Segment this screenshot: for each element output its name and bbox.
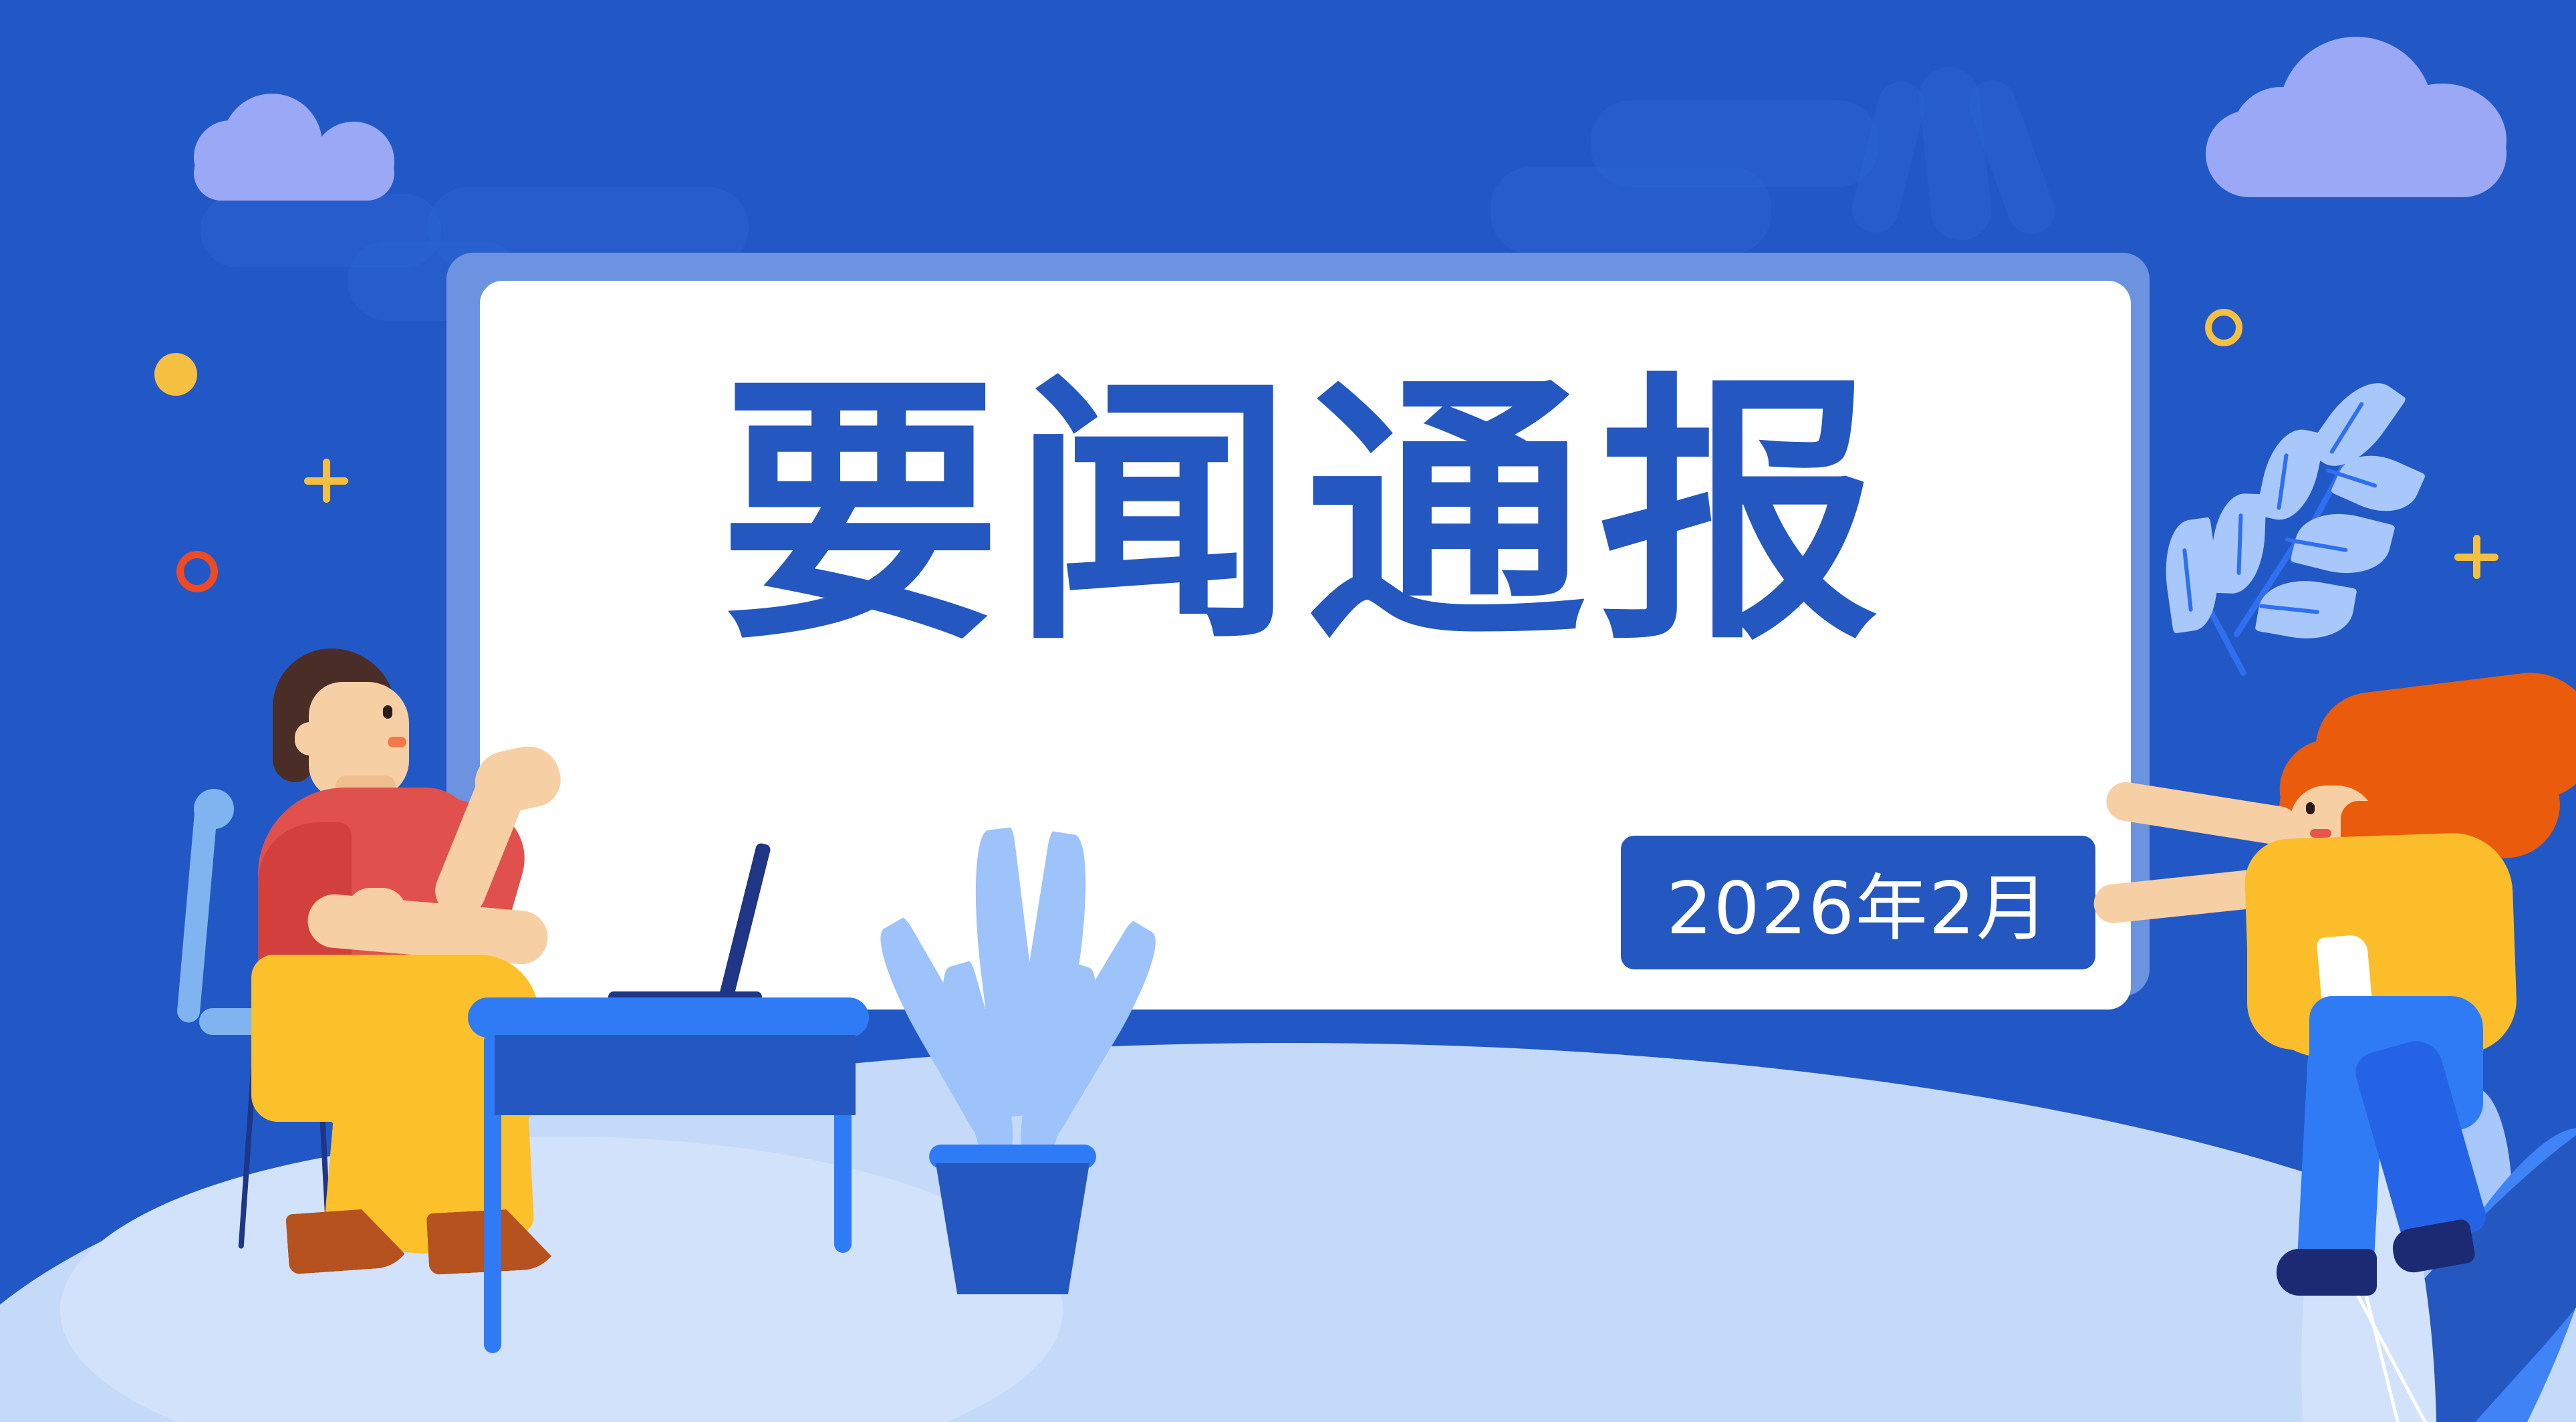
laptop-screen (717, 842, 771, 1008)
date-badge[interactable]: 2026年2月 (1621, 836, 2095, 969)
yellow-plus-left-icon (304, 459, 348, 503)
leaf-branch-icon (2166, 348, 2500, 695)
cloud-top-right-icon (2206, 37, 2506, 197)
bg-deco-shape-5 (201, 194, 441, 267)
page-title: 要闻通报 (480, 374, 2131, 655)
yellow-dot-icon (154, 353, 197, 396)
desk-illustration (468, 997, 896, 1358)
woman-pointing-illustration (2079, 669, 2576, 1344)
man-ear (295, 722, 326, 755)
desk-apron (495, 1035, 856, 1115)
potted-plant-illustration (869, 829, 1150, 1364)
chair-back-top (194, 789, 234, 829)
bg-deco-shape-4 (1491, 167, 1771, 254)
woman-arm-upper (2103, 780, 2301, 848)
desk-top (468, 997, 869, 1038)
man-eye (383, 705, 392, 719)
cloud-top-left-icon (194, 94, 394, 201)
man-mouth (388, 737, 406, 747)
woman-mouth (2310, 829, 2331, 838)
pot-body (936, 1163, 1089, 1294)
woman-eye (2306, 802, 2315, 814)
orange-ring-icon (176, 551, 218, 592)
man-wrist (346, 888, 406, 936)
yellow-ring-icon (2205, 309, 2242, 346)
date-badge-label: 2026年2月 (1666, 850, 2050, 955)
news-banner: 要闻通报 2026年2月 (0, 0, 2576, 1422)
laptop-illustration (628, 839, 829, 1013)
woman-boot-front (2277, 1249, 2377, 1296)
